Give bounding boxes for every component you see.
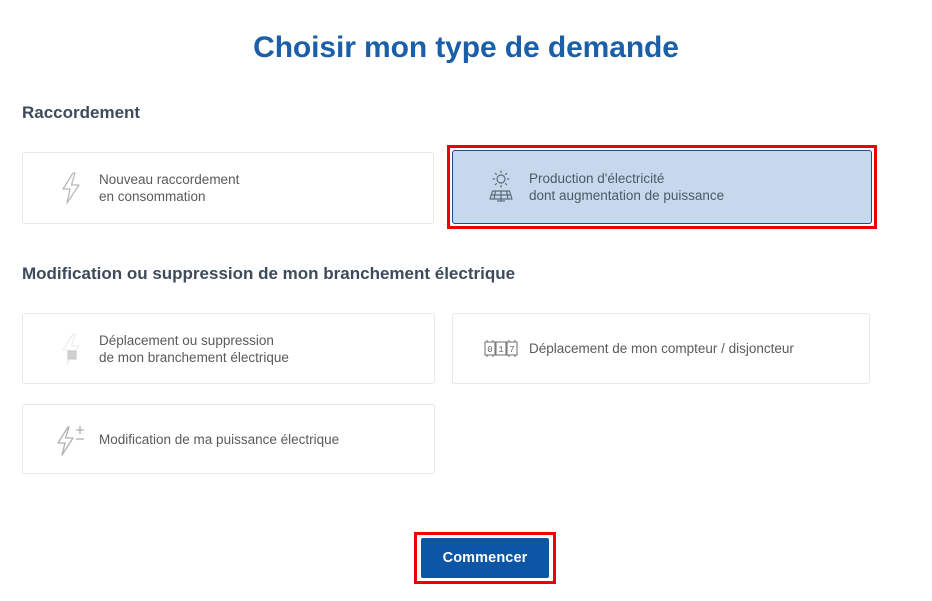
svg-text:1: 1 [498, 345, 503, 355]
card-modification-puissance[interactable]: Modification de ma puissance électrique [22, 404, 435, 474]
lightning-bolt-plus-minus-icon [43, 422, 99, 456]
card-nouveau-raccordement[interactable]: Nouveau raccordement en consommation [22, 152, 434, 224]
commencer-button[interactable]: Commencer [421, 538, 549, 578]
card-label-deplacement-compteur: Déplacement de mon compteur / disjoncteu… [529, 340, 808, 357]
card-label-modification-puissance: Modification de ma puissance électrique [99, 431, 353, 448]
svg-text:0: 0 [487, 345, 492, 355]
solar-panel-icon [473, 169, 529, 205]
section-heading-modification: Modification ou suppression de mon branc… [22, 264, 515, 284]
svg-text:7: 7 [509, 345, 514, 355]
card-deplacement-suppression[interactable]: Déplacement ou suppression de mon branch… [22, 313, 435, 384]
card-label-production-electricite: Production d'électricité dont augmentati… [529, 170, 738, 204]
electric-meter-icon: 0 1 7 [473, 338, 529, 360]
page-title: Choisir mon type de demande [0, 0, 932, 66]
lightning-bolt-icon [43, 171, 99, 205]
card-production-electricite[interactable]: Production d'électricité dont augmentati… [452, 150, 872, 224]
card-label-nouveau-raccordement: Nouveau raccordement en consommation [99, 171, 253, 205]
card-label-deplacement-suppression: Déplacement ou suppression de mon branch… [99, 332, 303, 366]
section-heading-raccordement: Raccordement [22, 103, 140, 123]
card-deplacement-compteur[interactable]: 0 1 7 Déplacement de mon compteur / disj… [452, 313, 870, 384]
lightning-bolt-move-icon [43, 331, 99, 367]
